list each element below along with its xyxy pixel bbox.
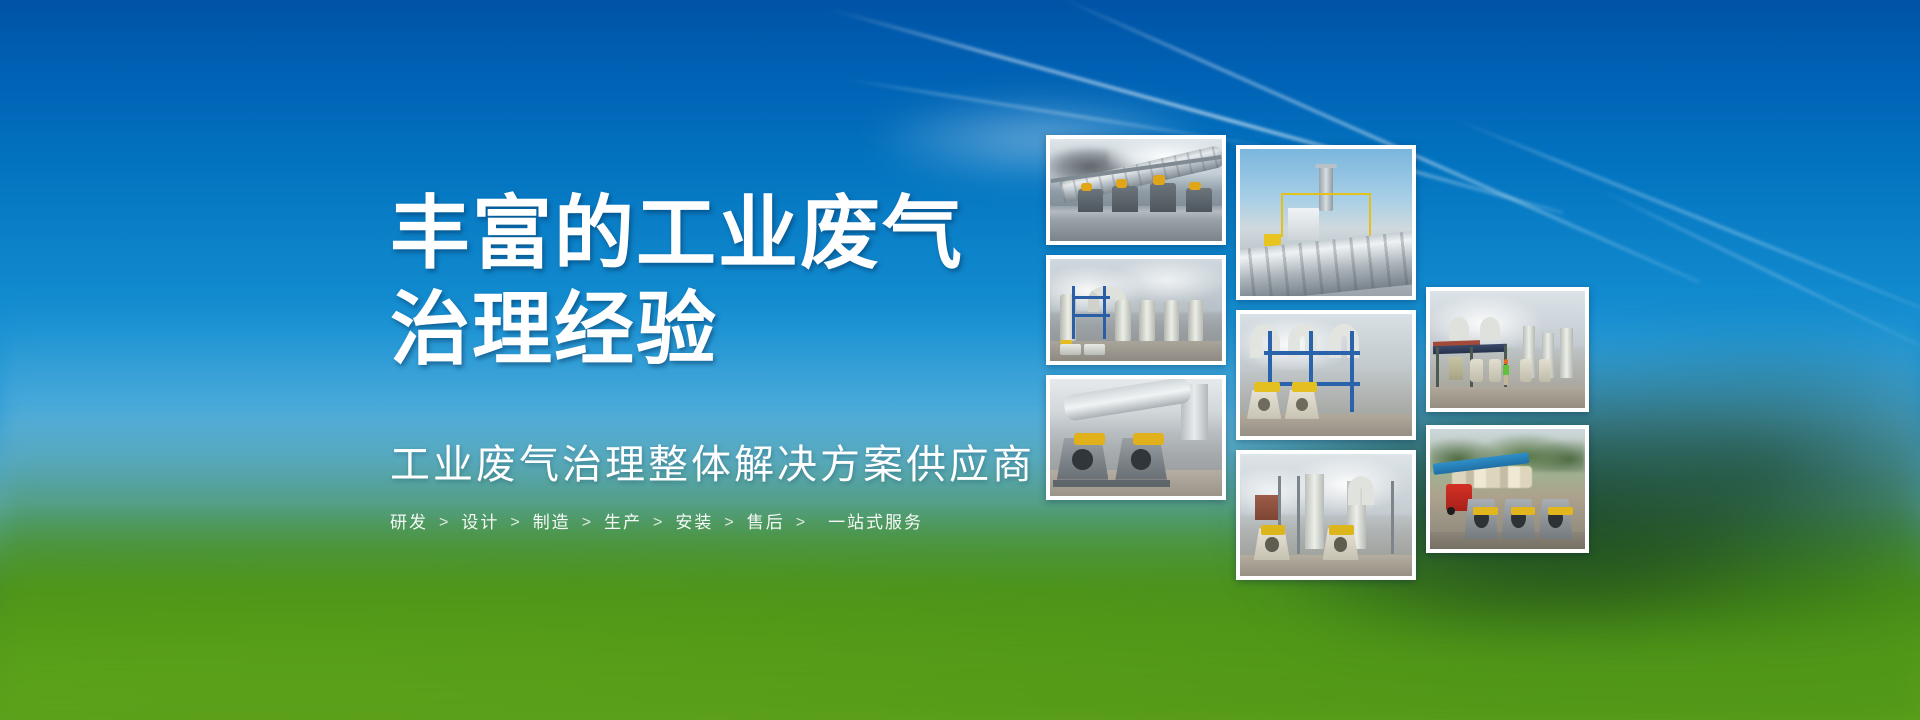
process-step-one-stop-service: 一站式服务 [828,512,923,534]
process-step-design: 设计 [461,512,499,534]
process-step-aftersales: 售后 [747,512,785,534]
process-breadcrumb: 研发 > 设计 > 制造 > 生产 > 安装 > 售后 > 一站式服务 [390,512,1030,534]
gallery-photo-scrubber-tower-array[interactable] [1046,255,1226,365]
gallery-photo-forklift-fan-housings-yard[interactable] [1426,425,1589,553]
process-separator-6: > [796,512,807,534]
headline-line-1: 丰富的工业废气 [390,189,964,278]
headline-line-2: 治理经验 [390,282,1030,378]
banner-subtitle: 工业废气治理整体解决方案供应商 [390,440,1030,490]
process-separator-4: > [653,512,664,534]
hero-banner: 丰富的工业废气 治理经验 工业废气治理整体解决方案供应商 研发 > 设计 > 制… [0,0,1920,720]
gallery-photo-open-shed-line-worker[interactable] [1426,287,1589,412]
gallery-photo-centrifugal-fans-skids[interactable] [1046,375,1226,500]
gallery-photo-plant-stacks-fans[interactable] [1236,450,1416,580]
gallery-photo-blue-frame-duct-line[interactable] [1236,310,1416,440]
gallery-photo-rooftop-duct-gallery[interactable] [1046,135,1226,245]
process-step-research: 研发 [390,512,428,534]
process-separator-2: > [510,512,521,534]
process-step-production: 生产 [604,512,642,534]
process-step-manufacture: 制造 [533,512,571,534]
project-photo-gallery [1030,100,1630,660]
process-step-installation: 安装 [675,512,713,534]
process-separator-3: > [582,512,593,534]
gallery-photo-rto-unit-pipeline[interactable] [1236,145,1416,300]
process-separator-1: > [439,512,450,534]
process-separator-5: > [724,512,735,534]
banner-headline: 丰富的工业废气 治理经验 [390,186,1030,378]
banner-copy-block: 丰富的工业废气 治理经验 工业废气治理整体解决方案供应商 研发 > 设计 > 制… [390,186,1030,534]
